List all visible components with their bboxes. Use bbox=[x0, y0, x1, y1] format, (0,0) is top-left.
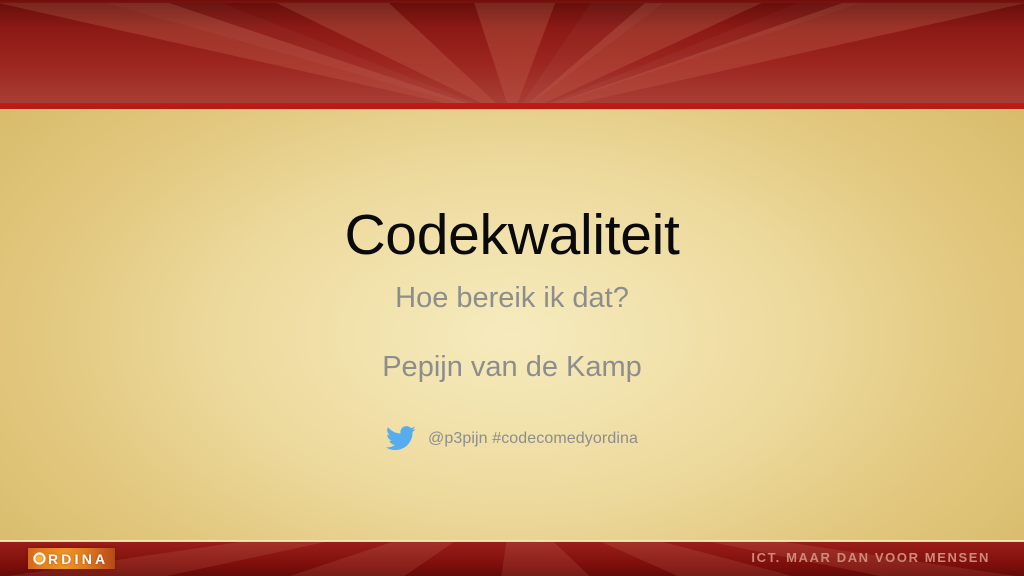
presenter-name: Pepijn van de Kamp bbox=[0, 351, 1024, 384]
slide-content: Codekwaliteit Hoe bereik ik dat? Pepijn … bbox=[0, 110, 1024, 542]
presentation-slide: Codekwaliteit Hoe bereik ik dat? Pepijn … bbox=[0, 0, 1024, 576]
ordina-logo: RDINA bbox=[28, 548, 115, 569]
banner-top-edge bbox=[0, 0, 1024, 3]
twitter-bird-icon bbox=[386, 426, 416, 451]
slide-title: Codekwaliteit bbox=[0, 206, 1024, 266]
sunburst-rays-top bbox=[0, 0, 1024, 104]
ordina-ring-icon bbox=[32, 551, 47, 566]
ordina-logo-text: RDINA bbox=[48, 552, 108, 566]
top-banner bbox=[0, 0, 1024, 104]
slide-subtitle: Hoe bereik ik dat? bbox=[0, 282, 1024, 315]
twitter-handle-text: @p3pijn #codecomedyordina bbox=[428, 430, 638, 448]
footer-tagline: ICT. MAAR DAN VOOR MENSEN bbox=[751, 551, 990, 564]
footer-bar: RDINA ICT. MAAR DAN VOOR MENSEN bbox=[0, 542, 1024, 576]
social-handle-row: @p3pijn #codecomedyordina bbox=[0, 426, 1024, 451]
